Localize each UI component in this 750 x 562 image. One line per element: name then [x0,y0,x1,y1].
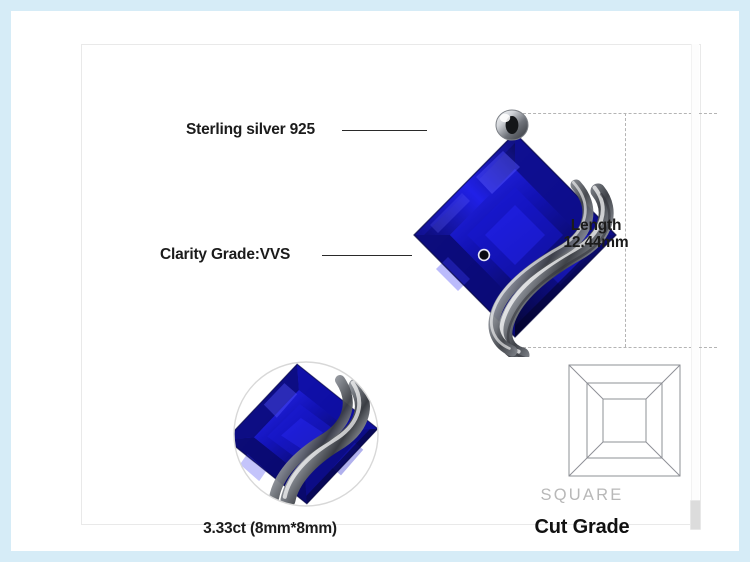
length-dimension-label: Length [548,217,644,234]
square-cut-outline-diagram-icon [566,362,683,479]
caption-shape-name: SQUARE [482,486,682,505]
leader-line-material [342,130,427,131]
caption-carat-weight: 3.33ct (8mm*8mm) [154,520,386,538]
caption-cut-grade-title: Cut Grade [482,516,682,539]
length-measurement-block: Length 12.44mm [548,217,644,252]
magnified-detail-circle-icon [230,358,382,510]
clarity-inclusion-dot-icon [478,249,490,261]
vertical-scrollbar-track[interactable] [691,44,699,525]
length-dimension-value: 12.44mm [548,234,644,251]
vertical-scrollbar-thumb[interactable] [690,500,701,530]
pendant-bail-icon [496,110,528,140]
product-image-sheet: Sterling silver 925 Clarity Grade:VVS Le… [11,11,739,551]
leader-line-clarity [322,255,412,256]
callout-label-material: Sterling silver 925 [186,121,315,139]
infographic-frame: Sterling silver 925 Clarity Grade:VVS Le… [81,44,701,525]
callout-label-clarity: Clarity Grade:VVS [160,246,290,264]
